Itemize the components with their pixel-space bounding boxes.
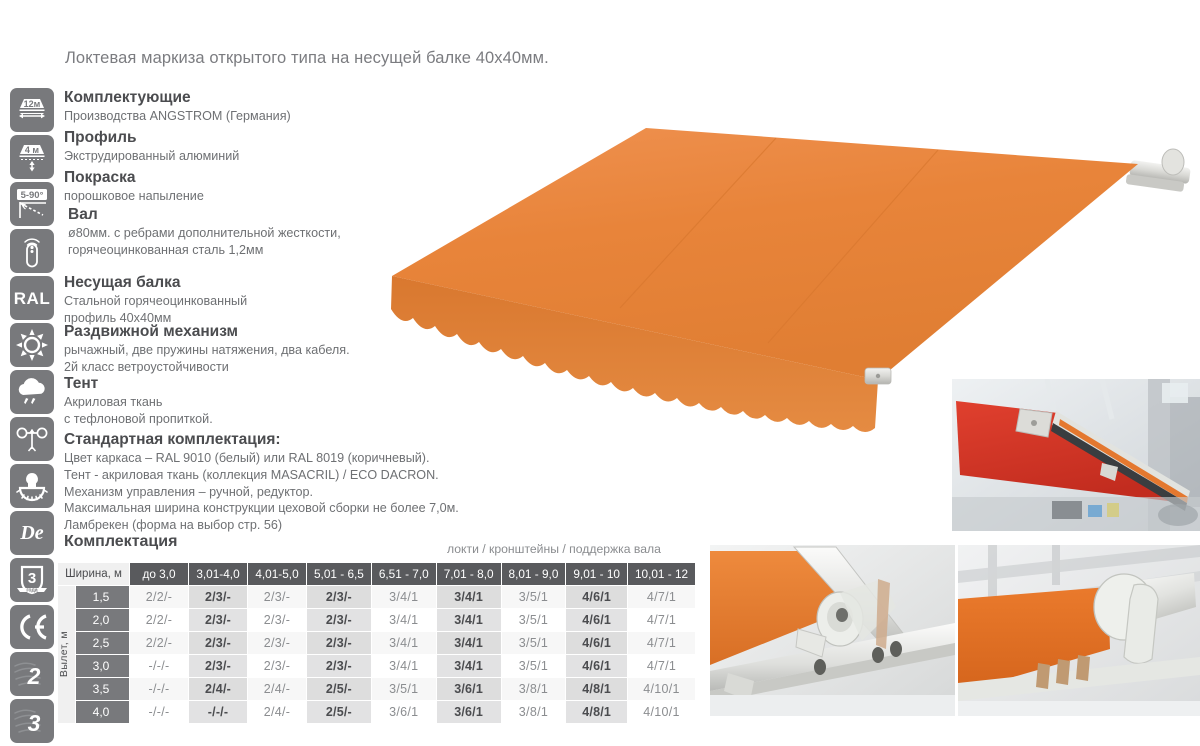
table-row: 3,5-/-/-2/4/-2/4/-2/5/-3/5/13/6/13/8/14/… [58, 678, 696, 701]
table-cell: -/-/- [130, 701, 189, 724]
width-12m-icon: 12м [10, 88, 54, 132]
de-label: De [20, 523, 43, 543]
spec-heading: Несущая балка [64, 273, 247, 292]
svg-text:2: 2 [27, 663, 41, 689]
table-cell: 4/7/1 [627, 586, 695, 609]
table-row-label: 2,0 [76, 609, 130, 632]
table-row-label: 2,5 [76, 632, 130, 655]
rain-cloud-icon [10, 370, 54, 414]
table-col-header: 7,01 - 8,0 [436, 563, 501, 586]
table-cell: 4/10/1 [627, 701, 695, 724]
table-cell: 2/3/- [307, 586, 372, 609]
table-cell: 4/6/1 [566, 632, 628, 655]
svg-text:года: года [26, 587, 37, 593]
table-cell: 2/3/- [189, 655, 248, 678]
table-cell: 3/5/1 [501, 586, 566, 609]
table-cell: 3/4/1 [371, 632, 436, 655]
spec-heading: Тент [64, 374, 213, 393]
spec-line: горячеоцинкованная сталь 1,2мм [68, 242, 341, 259]
table-cell: 3/4/1 [436, 586, 501, 609]
page-title: Локтевая маркиза открытого типа на несущ… [65, 49, 549, 68]
spec-heading: Раздвижной механизм [64, 322, 350, 341]
spec-line: Ламбрекен (форма на выбор стр. 56) [64, 517, 459, 534]
wind-class-2-icon: 2 [10, 652, 54, 696]
spec-line: Тент - акриловая ткань (коллекция MASACR… [64, 467, 459, 484]
table-cell: 2/3/- [248, 586, 307, 609]
table-col-header: 6,51 - 7,0 [371, 563, 436, 586]
table-cell: 2/3/- [307, 632, 372, 655]
table-col-header: до 3,0 [130, 563, 189, 586]
table-cell: 4/7/1 [627, 632, 695, 655]
table-row: 2,52/2/-2/3/-2/3/-2/3/-3/4/13/4/13/5/14/… [58, 632, 696, 655]
table-cell: 4/8/1 [566, 701, 628, 724]
table-cell: 2/2/- [130, 586, 189, 609]
product-spec-page: Локтевая маркиза открытого типа на несущ… [0, 0, 1200, 716]
ral-icon: RAL [10, 276, 54, 320]
table-cell: 3/6/1 [436, 701, 501, 724]
table-title: Комплектация [64, 533, 177, 551]
table-row-label: 3,0 [76, 655, 130, 678]
spec-heading: Покраска [64, 168, 204, 187]
table-cell: 2/3/- [248, 609, 307, 632]
table-row: 2,02/2/-2/3/-2/3/-2/3/-3/4/13/4/13/5/14/… [58, 609, 696, 632]
table-cell: 4/7/1 [627, 609, 695, 632]
photo-roller-end-cap [958, 545, 1200, 716]
spec-line: ø80мм. с ребрами дополнительной жесткост… [68, 225, 341, 242]
awning-mount-bracket [1126, 149, 1191, 192]
table-row-label: 3,5 [76, 678, 130, 701]
ce-mark-icon [10, 605, 54, 649]
photo-elbow-mechanism [710, 545, 955, 716]
table-cell: -/-/- [130, 678, 189, 701]
table-cell: 2/4/- [248, 678, 307, 701]
table-header-row: Ширина, м до 3,03,01-4,04,01-5,05,01 - 6… [58, 563, 696, 586]
sun-icon [10, 323, 54, 367]
table-col-header: 4,01-5,0 [248, 563, 307, 586]
spec-line: порошковое напыление [64, 188, 204, 205]
table-row-label: 1,5 [76, 586, 130, 609]
table-side-label: Вылет, м [58, 586, 76, 724]
table-cell: 2/4/- [189, 678, 248, 701]
table-col-header: 5,01 - 6,5 [307, 563, 372, 586]
svg-text:3: 3 [28, 570, 36, 587]
spec-block-standard-kit: Стандартная комплектация: Цвет каркаса –… [64, 430, 459, 533]
table-cell: 4/6/1 [566, 655, 628, 678]
table-cell: 3/5/1 [501, 655, 566, 678]
table-col-header: 10,01 - 12 [627, 563, 695, 586]
table-head: Ширина, м до 3,03,01-4,04,01-5,05,01 - 6… [58, 563, 696, 586]
table-cell: 3/6/1 [436, 678, 501, 701]
table-cell: 4/8/1 [566, 678, 628, 701]
spec-heading: Профиль [64, 128, 239, 147]
spec-line: Стальной горячеоцинкованный [64, 293, 247, 310]
table-cell: 4/10/1 [627, 678, 695, 701]
spec-line: с тефлоновой пропиткой. [64, 411, 213, 428]
table-cell: 4/7/1 [627, 655, 695, 678]
table-cell: 2/3/- [189, 632, 248, 655]
remote-control-icon [10, 229, 54, 273]
svg-text:12м: 12м [24, 99, 41, 109]
spec-heading: Комплектующие [64, 88, 291, 107]
table-cell: 2/2/- [130, 609, 189, 632]
dedeman-de-icon: De [10, 511, 54, 555]
table-row: 4,0-/-/--/-/-2/4/-2/5/-3/6/13/6/13/8/14/… [58, 701, 696, 724]
ral-label: RAL [14, 290, 50, 307]
configuration-table: Ширина, м до 3,03,01-4,04,01-5,05,01 - 6… [57, 562, 696, 724]
awning-front-end-cap [865, 368, 891, 384]
spec-line: Цвет каркаса – RAL 9010 (белый) или RAL … [64, 450, 459, 467]
table-cell: 3/8/1 [501, 701, 566, 724]
table-cell: 3/8/1 [501, 678, 566, 701]
table-row-label: 4,0 [76, 701, 130, 724]
spec-block-profile: Профиль Экструдированный алюминий [64, 128, 239, 165]
configuration-table-wrapper: Ширина, м до 3,03,01-4,04,01-5,05,01 - 6… [57, 562, 696, 724]
table-cell: 2/3/- [248, 632, 307, 655]
table-cell: 2/3/- [307, 609, 372, 632]
svg-text:3: 3 [28, 710, 41, 736]
spec-line: Механизм управления – ручной, редуктор. [64, 484, 459, 501]
table-cell: 3/5/1 [501, 609, 566, 632]
feature-icon-rail: 12м 4 м 5-90° [10, 88, 58, 746]
table-cell: 2/4/- [248, 701, 307, 724]
table-cell: 3/4/1 [436, 609, 501, 632]
table-cell: 3/4/1 [371, 655, 436, 678]
table-cell: 4/6/1 [566, 586, 628, 609]
wind-class-3-icon: 3 [10, 699, 54, 743]
table-cell: 3/4/1 [436, 655, 501, 678]
table-cell: 3/4/1 [436, 632, 501, 655]
table-cell: 2/5/- [307, 678, 372, 701]
projection-4m-icon: 4 м [10, 135, 54, 179]
table-cell: 2/3/- [189, 586, 248, 609]
spec-block-fabric: Тент Акриловая ткань с тефлоновой пропит… [64, 374, 213, 428]
photo-awning-red-mounted [952, 379, 1200, 531]
table-col-header: 3,01-4,0 [189, 563, 248, 586]
table-cell: 2/5/- [307, 701, 372, 724]
table-cell: -/-/- [130, 655, 189, 678]
table-corner-label: Ширина, м [58, 563, 130, 586]
warranty-3-years-icon: 3 года [10, 558, 54, 602]
table-cell: 2/3/- [189, 609, 248, 632]
table-cell: 3/4/1 [371, 586, 436, 609]
table-row: Вылет, м1,52/2/-2/3/-2/3/-2/3/-3/4/13/4/… [58, 586, 696, 609]
spec-block-beam: Несущая балка Стальной горячеоцинкованны… [64, 273, 247, 327]
table-cell: -/-/- [189, 701, 248, 724]
spec-line: Экструдированный алюминий [64, 148, 239, 165]
spec-line: рычажный, две пружины натяжения, два каб… [64, 342, 350, 359]
spec-block-mechanism: Раздвижной механизм рычажный, две пружин… [64, 322, 350, 376]
spec-line: Акриловая ткань [64, 394, 213, 411]
angle-5-90-icon: 5-90° [10, 182, 54, 226]
svg-text:5-90°: 5-90° [21, 190, 44, 201]
table-cell: 2/3/- [248, 655, 307, 678]
spec-line: Максимальная ширина конструкции цеховой … [64, 500, 459, 517]
spring-mechanism-icon [10, 417, 54, 461]
weather-sensor-icon [10, 464, 54, 508]
spec-block-roller: Вал ø80мм. с ребрами дополнительной жест… [68, 205, 341, 259]
spec-block-paint: Покраска порошковое напыление [64, 168, 204, 205]
spec-line: Производства ANGSTROM (Германия) [64, 108, 291, 125]
svg-text:4 м: 4 м [25, 145, 40, 155]
table-cell: 3/5/1 [371, 678, 436, 701]
spec-block-components: Комплектующие Производства ANGSTROM (Гер… [64, 88, 291, 125]
table-cell: 3/4/1 [371, 609, 436, 632]
table-col-header: 8,01 - 9,0 [501, 563, 566, 586]
table-col-header: 9,01 - 10 [566, 563, 628, 586]
table-cell: 3/5/1 [501, 632, 566, 655]
table-cell: 3/6/1 [371, 701, 436, 724]
table-cell: 2/2/- [130, 632, 189, 655]
spec-heading: Вал [68, 205, 341, 224]
table-cell: 2/3/- [307, 655, 372, 678]
table-cell: 4/6/1 [566, 609, 628, 632]
table-row: 3,0-/-/-2/3/-2/3/-2/3/-3/4/13/4/13/5/14/… [58, 655, 696, 678]
table-subtitle: локти / кронштейны / поддержка вала [447, 542, 661, 556]
table-body: Вылет, м1,52/2/-2/3/-2/3/-2/3/-3/4/13/4/… [58, 586, 696, 724]
